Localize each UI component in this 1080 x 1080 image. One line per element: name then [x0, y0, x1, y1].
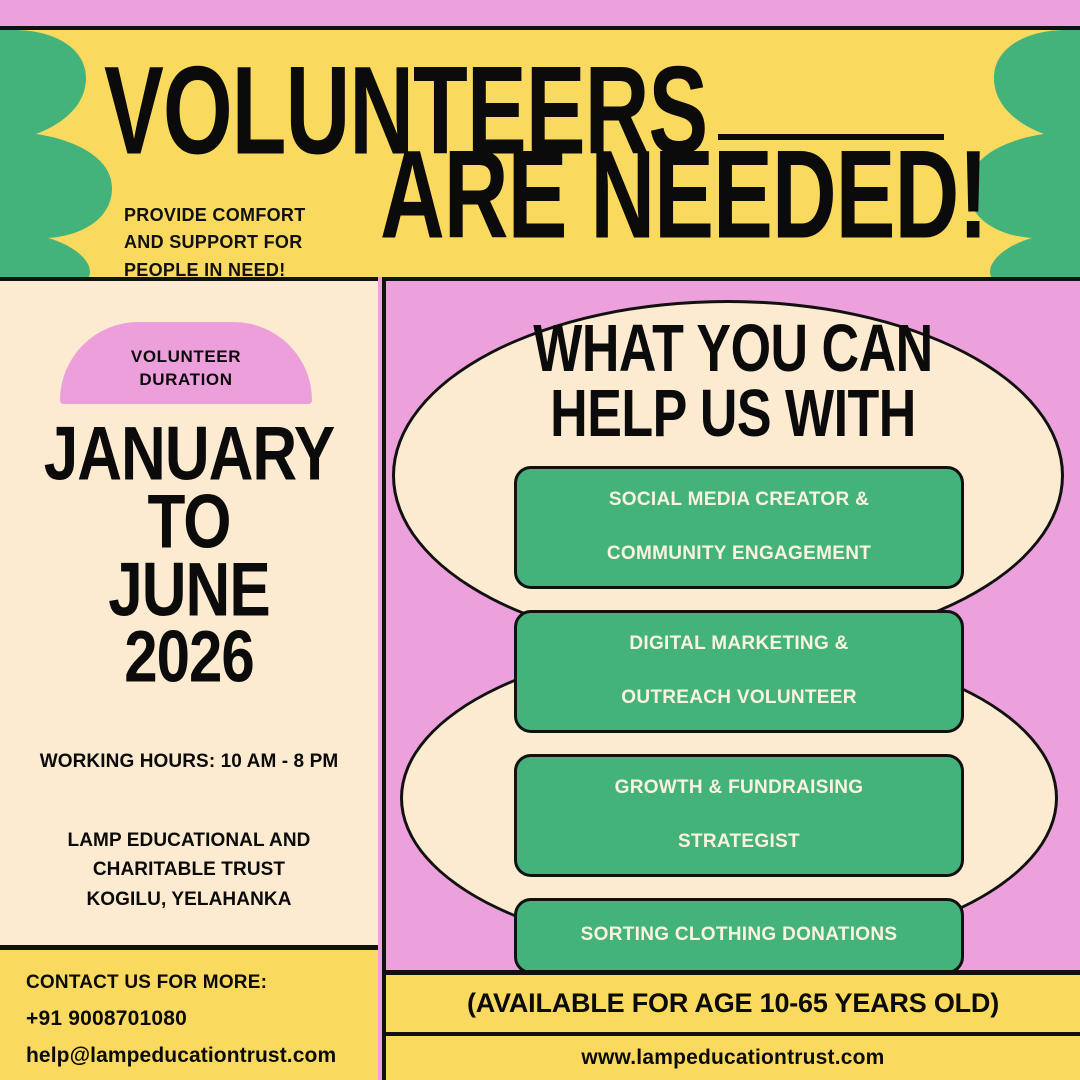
contact-heading: CONTACT US FOR MORE: [26, 972, 378, 994]
duration-connector: TO [0, 489, 378, 557]
org-line-2: CHARITABLE TRUST [93, 859, 285, 880]
roles-title-line-1: WHAT YOU CAN [533, 312, 932, 386]
org-line-1: LAMP EDUCATIONAL AND [67, 830, 310, 851]
header-subtitle: PROVIDE COMFORT AND SUPPORT FOR PEOPLE I… [124, 202, 339, 277]
duration-month-from: JANUARY [0, 421, 378, 489]
top-pink-strip [0, 0, 1080, 22]
organisation-address: LAMP EDUCATIONAL AND CHARITABLE TRUST KO… [0, 826, 378, 914]
age-eligibility-text: (AVAILABLE FOR AGE 10-65 YEARS OLD) [467, 988, 999, 1019]
age-eligibility-bar: (AVAILABLE FOR AGE 10-65 YEARS OLD) [382, 970, 1080, 1032]
roles-panel: WHAT YOU CAN HELP US WITH SOCIAL MEDIA C… [382, 277, 1080, 970]
role-label-line-2: STRATEGIST [615, 829, 864, 856]
duration-panel: VOLUNTEER DURATION JANUARY TO JUNE 2026 … [0, 277, 378, 945]
badge-line-2: DURATION [139, 369, 232, 392]
contact-phone[interactable]: +91 9008701080 [26, 1007, 378, 1031]
website-url[interactable]: www.lampeducationtrust.com [581, 1046, 884, 1070]
role-label-line-1: DIGITAL MARKETING & [621, 631, 857, 658]
org-line-3: KOGILU, YELAHANKA [86, 889, 291, 910]
role-label-line-1: SOCIAL MEDIA CREATOR & [607, 487, 871, 514]
role-pill[interactable]: SORTING CLOTHING DONATIONS [514, 898, 964, 970]
role-pill[interactable]: DIGITAL MARKETING & OUTREACH VOLUNTEER [514, 610, 964, 733]
role-label-line-1: GROWTH & FUNDRAISING [615, 775, 864, 802]
duration-month-to: JUNE [0, 557, 378, 625]
roles-title-line-2: HELP US WITH [550, 377, 916, 451]
badge-line-1: VOLUNTEER [131, 346, 241, 369]
working-hours: WORKING HOURS: 10 AM - 8 PM [0, 751, 378, 773]
duration-dates: JANUARY TO JUNE 2026 [0, 421, 378, 690]
volunteer-duration-badge: VOLUNTEER DURATION [60, 322, 312, 404]
roles-title: WHAT YOU CAN HELP US WITH [386, 317, 1080, 447]
page-title-line2: ARE NEEDED! [380, 138, 987, 253]
duration-year: 2026 [0, 624, 378, 690]
role-label-line-1: SORTING CLOTHING DONATIONS [581, 922, 898, 949]
contact-email[interactable]: help@lampeducationtrust.com [26, 1044, 378, 1068]
role-pill[interactable]: SOCIAL MEDIA CREATOR & COMMUNITY ENGAGEM… [514, 466, 964, 589]
website-bar: www.lampeducationtrust.com [382, 1032, 1080, 1080]
contact-footer: CONTACT US FOR MORE: +91 9008701080 help… [0, 945, 378, 1080]
role-label-line-2: OUTREACH VOLUNTEER [621, 685, 857, 712]
volunteer-poster: VOLUNTEERS ARE NEEDED! PROVIDE COMFORT A… [0, 0, 1080, 1080]
role-pill[interactable]: GROWTH & FUNDRAISING STRATEGIST [514, 754, 964, 877]
role-label-line-2: COMMUNITY ENGAGEMENT [607, 541, 871, 568]
roles-list: SOCIAL MEDIA CREATOR & COMMUNITY ENGAGEM… [514, 466, 964, 970]
poster-header: VOLUNTEERS ARE NEEDED! PROVIDE COMFORT A… [0, 26, 1080, 277]
header-title-group: VOLUNTEERS ARE NEEDED! PROVIDE COMFORT A… [0, 30, 1080, 277]
